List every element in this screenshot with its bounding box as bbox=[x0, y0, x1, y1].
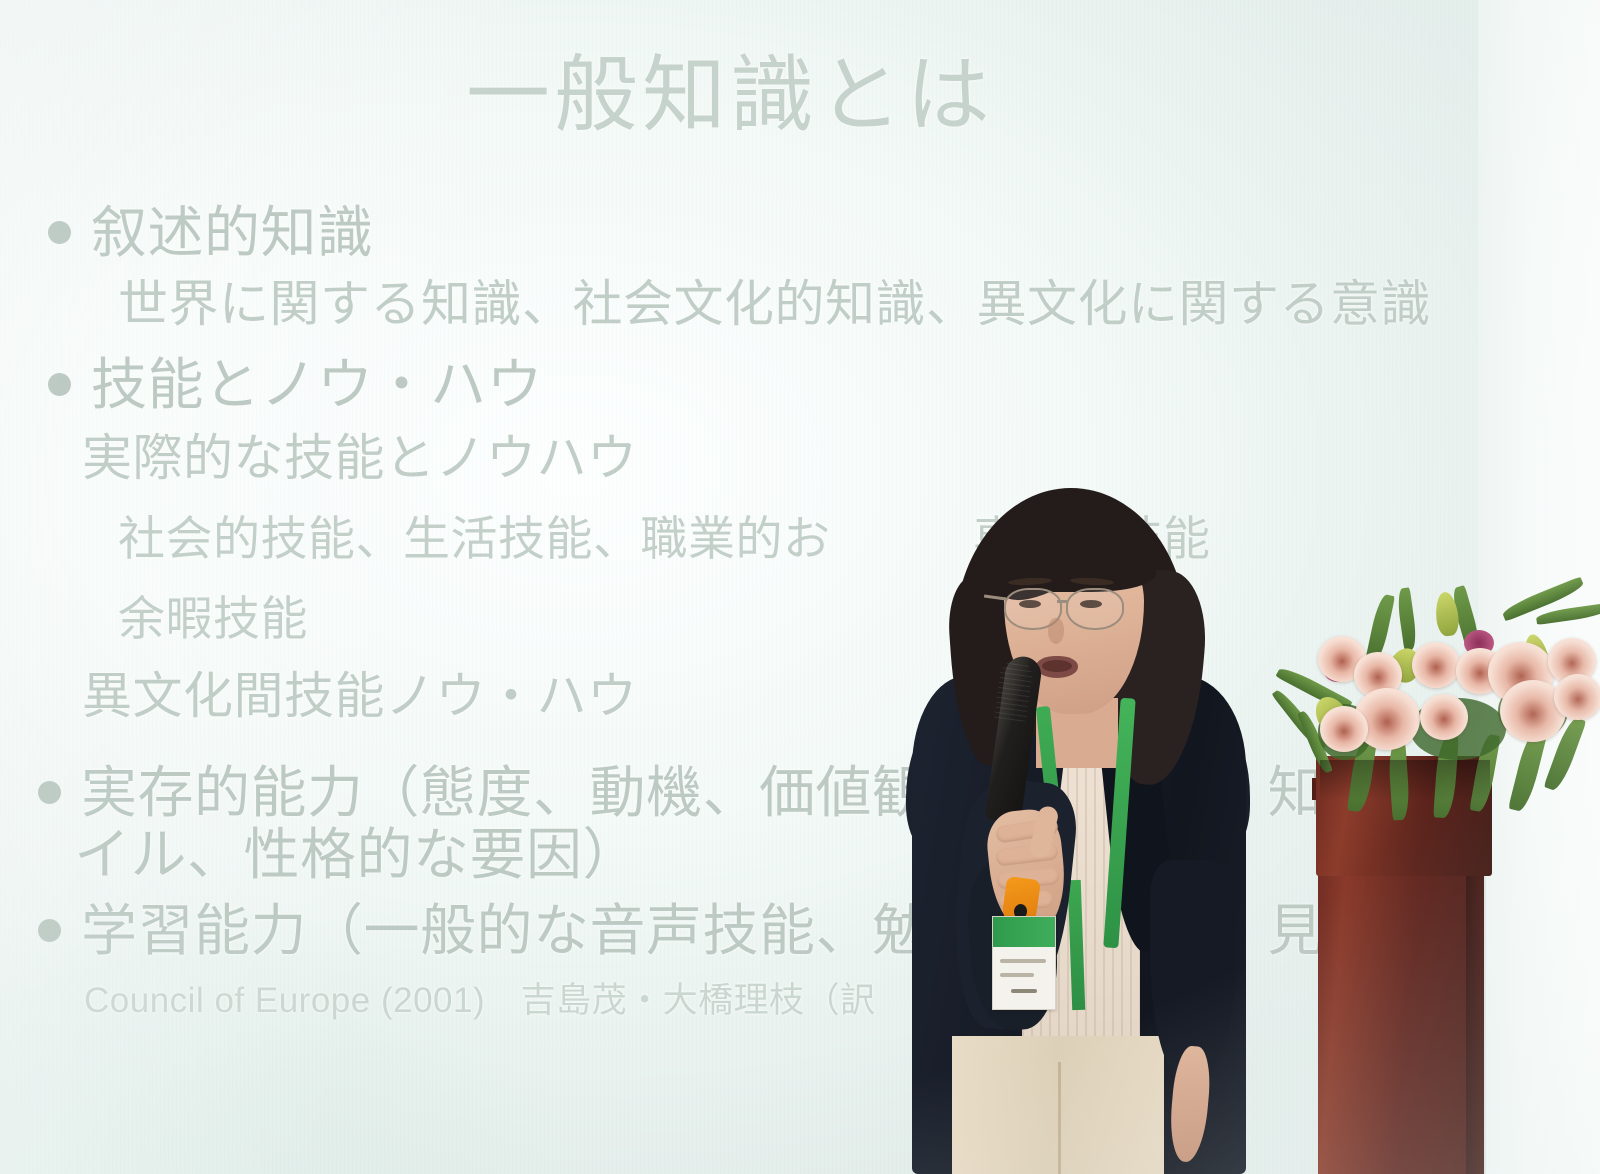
floral-arrangement bbox=[1260, 586, 1600, 816]
lily-flower bbox=[1554, 674, 1600, 720]
slide-bullet-row: 叙述的知識 bbox=[48, 188, 374, 269]
slide-bullet-text: 叙述的知識 bbox=[91, 188, 374, 269]
nose bbox=[1048, 618, 1064, 644]
speaker-figure bbox=[900, 480, 1260, 1174]
slide-bullet-text: 異文化間技能ノウ・ハウ bbox=[82, 656, 638, 728]
slide-bullet-row: 技能とノウ・ハウ bbox=[48, 340, 543, 421]
screenshot-stage: 一般知識とは 叙述的知識 世界に関する知識、社会文化的知識、異文化に関する意識 … bbox=[0, 0, 1600, 1174]
slide-bullet-text: イル、性格的な要因） bbox=[74, 810, 639, 891]
bullet-dot-icon bbox=[48, 221, 71, 244]
bullet-dot-icon bbox=[38, 781, 61, 804]
fern-frond bbox=[1387, 741, 1410, 820]
fern-frond bbox=[1396, 587, 1418, 650]
slide-bullet-text: 実際的な技能とノウハウ bbox=[82, 418, 638, 490]
slide-bullet-text: 世界に関する知識、社会文化的知識、異文化に関する意識 bbox=[118, 264, 1431, 336]
slide-title: 一般知識とは bbox=[0, 28, 1460, 149]
trouser-seam bbox=[1058, 1062, 1061, 1174]
mouth-inner bbox=[1042, 660, 1072, 672]
bullet-dot-icon bbox=[38, 919, 61, 942]
slide-bullet-text: 余暇技能 bbox=[118, 580, 308, 649]
name-badge-header bbox=[993, 917, 1055, 947]
glasses-bridge bbox=[1057, 600, 1068, 603]
lily-flower bbox=[1420, 694, 1468, 740]
lily-flower bbox=[1412, 642, 1460, 688]
lily-flower bbox=[1320, 706, 1368, 752]
name-badge bbox=[992, 916, 1056, 1010]
bullet-dot-icon bbox=[48, 373, 71, 396]
name-badge-text-line bbox=[1000, 973, 1034, 977]
slide-bullet-text: 技能とノウ・ハウ bbox=[91, 340, 543, 421]
name-badge-text-line bbox=[1011, 989, 1037, 993]
fern-frond bbox=[1536, 603, 1600, 625]
glasses-lens-right bbox=[1066, 588, 1124, 630]
name-badge-text-line bbox=[1000, 959, 1046, 963]
